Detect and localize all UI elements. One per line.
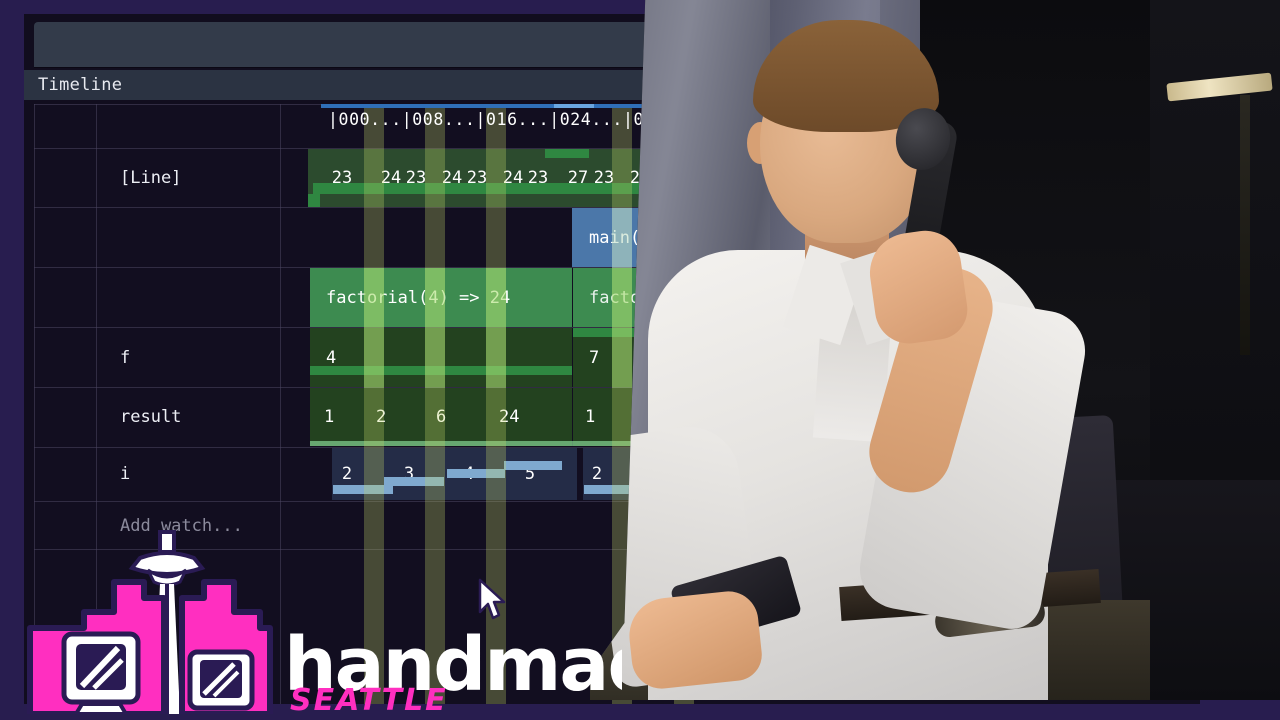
result-value: 24 (499, 388, 547, 446)
result-value: 1 (585, 388, 625, 446)
line-row-tick (308, 194, 320, 207)
screen-root: Timeline 23 (0, 0, 1280, 720)
row-label-f: f (120, 328, 130, 387)
mouse-cursor (478, 578, 508, 622)
row-label-i: i (120, 448, 130, 500)
i-step-bar (447, 469, 505, 478)
stage-rail (1240, 95, 1250, 355)
result-value: 6 (436, 388, 476, 446)
logo-svg: handmade SEATTLE (22, 524, 622, 714)
i-step-bar (384, 477, 444, 486)
video-frame (590, 0, 1280, 700)
monitor-icon (64, 634, 138, 714)
monitor-icon (190, 652, 252, 708)
speaker-left-hand (626, 588, 765, 691)
result-value: 2 (376, 388, 416, 446)
i-step-bar (504, 461, 562, 470)
cursor-icon (478, 578, 508, 622)
line-value: 23 (584, 149, 624, 207)
watch-f-bar (310, 366, 572, 375)
call-block-factorial-4[interactable]: factorial(4) => 24 (310, 268, 572, 327)
line-value: 23 (322, 149, 362, 207)
logo-subtitle: SEATTLE (290, 683, 448, 714)
result-value: 1 (324, 388, 364, 446)
watch-f-block-0: 4 (310, 328, 572, 387)
i-step-bar (333, 485, 393, 494)
line-value: 23 (457, 149, 497, 207)
speaker-video (590, 0, 1280, 700)
handmade-seattle-logo: handmade SEATTLE (22, 524, 622, 714)
i-value: 5 (507, 448, 553, 500)
line-value: 23 (518, 149, 558, 207)
row-label-line: [Line] (120, 149, 181, 207)
page-title: Timeline (38, 75, 122, 95)
row-label-result: result (120, 388, 181, 446)
line-value: 23 (396, 149, 436, 207)
